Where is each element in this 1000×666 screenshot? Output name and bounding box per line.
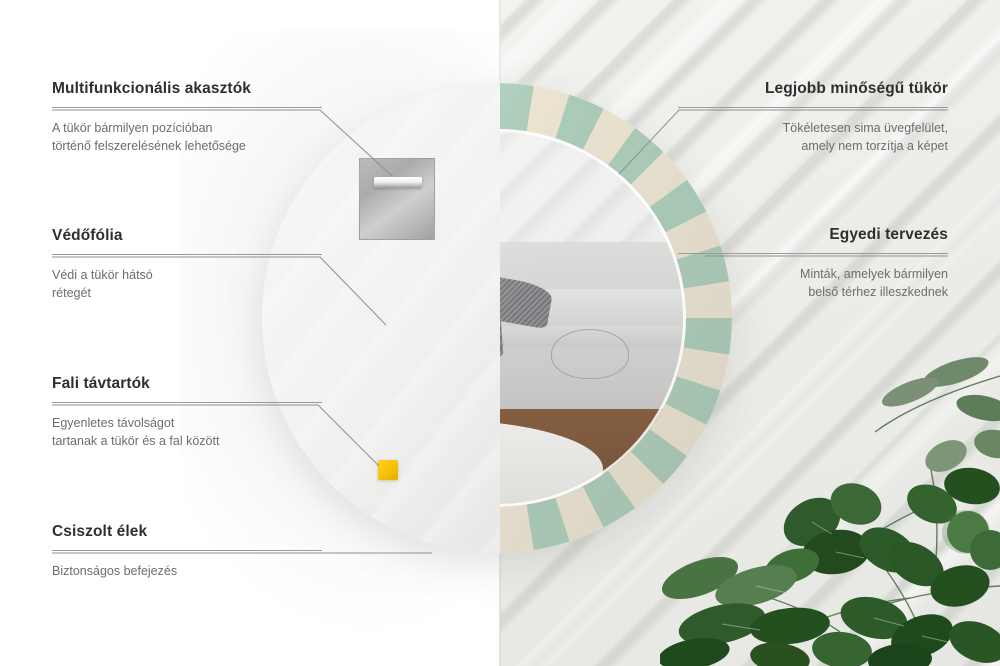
callout-title: Fali távtartók bbox=[52, 375, 322, 393]
callout-description: A tükör bármilyen pozícióban történő fel… bbox=[52, 119, 322, 155]
callout-wall-spacers: Fali távtartók Egyenletes távolságot tar… bbox=[52, 375, 322, 450]
foliage-decoration bbox=[660, 336, 1000, 666]
callout-description: Egyenletes távolságot tartanak a tükör é… bbox=[52, 414, 322, 450]
callout-description: Minták, amelyek bármilyen belső térhez i… bbox=[678, 265, 948, 301]
callout-title: Multifunkcionális akasztók bbox=[52, 80, 322, 98]
callout-title: Legjobb minőségű tükör bbox=[678, 80, 948, 98]
callout-best-quality-mirror: Legjobb minőségű tükör Tökéletesen sima … bbox=[678, 80, 948, 155]
wall-spacer-part bbox=[378, 460, 398, 480]
callout-rule bbox=[52, 550, 322, 551]
callout-rule bbox=[52, 254, 322, 255]
callout-title: Csiszolt élek bbox=[52, 523, 322, 541]
callout-protective-film: Védőfólia Védi a tükör hátsó rétegét bbox=[52, 227, 322, 302]
hanger-plate bbox=[359, 158, 435, 240]
callout-description: Védi a tükör hátsó rétegét bbox=[52, 266, 322, 302]
leaves-illustration bbox=[660, 336, 1000, 666]
callout-description: Tökéletesen sima üvegfelület, amely nem … bbox=[678, 119, 948, 155]
callout-rule bbox=[52, 107, 322, 108]
callout-title: Egyedi tervezés bbox=[678, 226, 948, 244]
callout-rule bbox=[678, 107, 948, 108]
callout-title: Védőfólia bbox=[52, 227, 322, 245]
hanger-slot-icon bbox=[374, 177, 422, 188]
infographic-canvas: Multifunkcionális akasztók A tükör bármi… bbox=[0, 0, 1000, 666]
callout-polished-edges: Csiszolt élek Biztonságos befejezés bbox=[52, 523, 322, 580]
callout-rule bbox=[678, 253, 948, 254]
reflection-floor-lamp bbox=[551, 329, 629, 379]
callout-description: Biztonságos befejezés bbox=[52, 562, 322, 580]
callout-unique-design: Egyedi tervezés Minták, amelyek bármilye… bbox=[678, 226, 948, 301]
callout-rule bbox=[52, 402, 322, 403]
callout-multifunctional-hangers: Multifunkcionális akasztók A tükör bármi… bbox=[52, 80, 322, 155]
